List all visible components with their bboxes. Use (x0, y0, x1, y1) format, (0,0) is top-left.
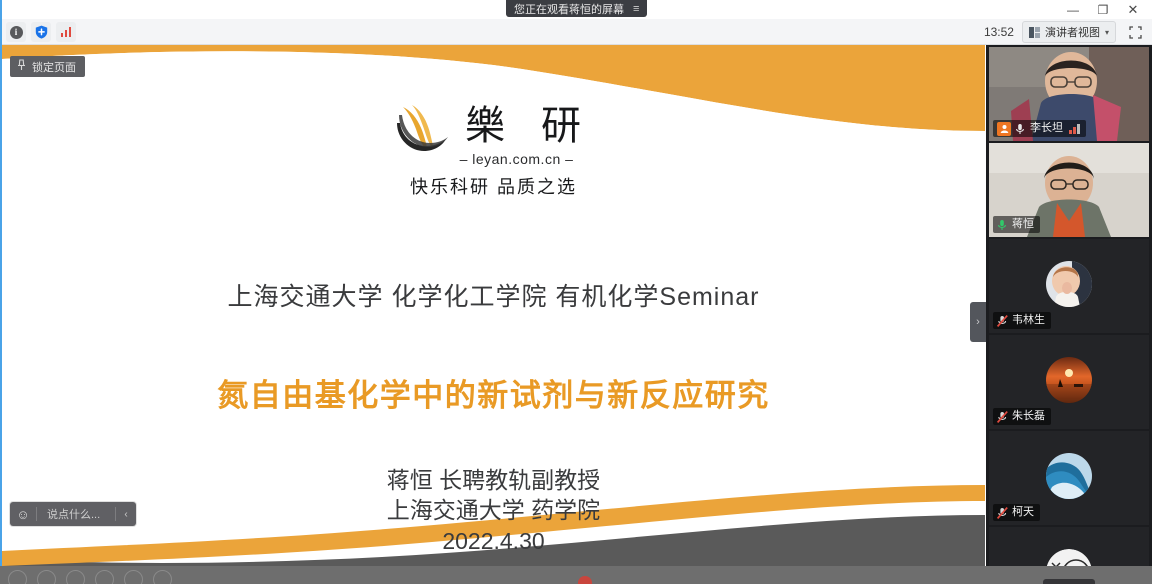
chat-input[interactable]: 说点什么... (37, 506, 115, 522)
close-button[interactable]: ✕ (1118, 0, 1148, 19)
menu-icon[interactable]: ≡ (633, 3, 639, 15)
logo-row: 樂 研 (393, 97, 594, 155)
collapse-chat-icon[interactable]: ‹ (116, 509, 136, 520)
speaker-name: 蒋恒 长聘教轨副教授 (2, 465, 985, 495)
participant-nameplate: 韦林生 (993, 312, 1051, 329)
mic-muted-icon (997, 506, 1008, 519)
os-taskbar[interactable] (0, 566, 1152, 584)
window-controls: — ❐ ✕ (1058, 0, 1148, 19)
shared-screen-viewer: — ❐ ✕ i (0, 0, 1152, 566)
participant-tile[interactable]: 朱长磊 (989, 335, 1149, 429)
panel-collapse-handle[interactable]: › (970, 302, 986, 342)
participant-tile[interactable]: 韦林生 (989, 239, 1149, 333)
fullscreen-icon (1129, 26, 1142, 39)
brand-logo: 樂 研 – leyan.com.cn – 快乐科研 品质之选 (2, 97, 985, 199)
lock-page-button[interactable]: 锁定页面 (10, 56, 85, 77)
avatar (1046, 261, 1092, 307)
mic-muted-icon (997, 410, 1008, 423)
leyan-logo-icon (393, 97, 451, 155)
taskbar-record-indicator[interactable] (578, 576, 592, 584)
participant-nameplate: 柯天 (993, 504, 1040, 521)
screen-root: — ❐ ✕ i (0, 0, 1152, 584)
taskbar-icon[interactable] (153, 570, 172, 584)
taskbar-icon[interactable] (124, 570, 143, 584)
participant-name: 韦林生 (1012, 315, 1045, 326)
host-badge-icon (997, 122, 1011, 136)
brand-tagline: 快乐科研 品质之选 (410, 173, 577, 199)
slide-title: 氮自由基化学中的新试剂与新反应研究 (2, 370, 985, 415)
presentation-slide: 樂 研 – leyan.com.cn – 快乐科研 品质之选 上海交通大学 化学… (2, 45, 985, 566)
participant-filmstrip[interactable]: 李长坦 (986, 45, 1152, 584)
view-mode-selector[interactable]: 演讲者视图 ▾ (1022, 21, 1116, 43)
minimize-button[interactable]: — (1058, 0, 1088, 19)
view-mode-label: 演讲者视图 (1045, 24, 1100, 40)
lock-page-label: 锁定页面 (32, 59, 76, 75)
pin-icon (17, 59, 26, 74)
slide-organization-line: 上海交通大学 化学化工学院 有机化学Seminar (2, 277, 985, 313)
screen-share-status-label: 您正在观看蒋恒的屏幕 (514, 1, 624, 17)
participant-name: 柯天 (1012, 507, 1034, 518)
presenter-view-icon (1029, 27, 1040, 38)
shield-icon (35, 25, 48, 39)
taskbar-icon[interactable] (95, 570, 114, 584)
app-toolbar: i (0, 19, 1152, 45)
toolbar-right-group: 13:52 演讲者视图 ▾ (984, 19, 1152, 45)
avatar (1046, 357, 1092, 403)
participant-tile[interactable]: 蒋恒 (989, 143, 1149, 237)
screen-share-status-pill[interactable]: 您正在观看蒋恒的屏幕 ≡ (506, 0, 647, 17)
info-icon: i (10, 26, 23, 39)
participant-nameplate: 李长坦 (993, 120, 1086, 137)
taskbar-icon[interactable] (37, 570, 56, 584)
avatar (1046, 453, 1092, 499)
toolbar-icon-group: i (6, 22, 76, 42)
emoji-icon[interactable]: ☺ (10, 507, 36, 522)
participant-nameplate: 朱长磊 (993, 408, 1051, 425)
speaker-affiliation: 上海交通大学 药学院 (2, 495, 985, 525)
brand-url: – leyan.com.cn – (460, 151, 574, 167)
signal-strength-icon (1069, 124, 1080, 134)
bar-chart-icon (61, 27, 72, 37)
brand-name-cn: 樂 研 (461, 106, 594, 146)
clock-label: 13:52 (984, 25, 1014, 39)
slide-speaker-block: 蒋恒 长聘教轨副教授 上海交通大学 药学院 2022.4.30 (2, 465, 985, 556)
slide-date: 2022.4.30 (2, 526, 985, 556)
taskbar-icon[interactable] (66, 570, 85, 584)
shield-icon-button[interactable] (31, 22, 51, 42)
scroll-down-button[interactable]: ⌄ (1043, 579, 1095, 584)
participant-name: 李长坦 (1030, 123, 1063, 134)
mic-icon (997, 218, 1008, 231)
participant-nameplate: 蒋恒 (993, 216, 1040, 233)
chat-bar[interactable]: ☺ 说点什么... ‹ (10, 502, 136, 526)
taskbar-icon[interactable] (8, 570, 27, 584)
info-icon-button[interactable]: i (6, 22, 26, 42)
mic-muted-icon (997, 314, 1008, 327)
chevron-down-icon: ▾ (1105, 28, 1109, 37)
maximize-button[interactable]: ❐ (1088, 0, 1118, 19)
participant-tile[interactable]: 柯天 (989, 431, 1149, 525)
mic-icon (1015, 122, 1026, 135)
participant-tile[interactable]: 李长坦 (989, 47, 1149, 141)
participant-name: 朱长磊 (1012, 411, 1045, 422)
fullscreen-button[interactable] (1124, 22, 1146, 42)
participant-name: 蒋恒 (1012, 219, 1034, 230)
stats-icon-button[interactable] (56, 22, 76, 42)
